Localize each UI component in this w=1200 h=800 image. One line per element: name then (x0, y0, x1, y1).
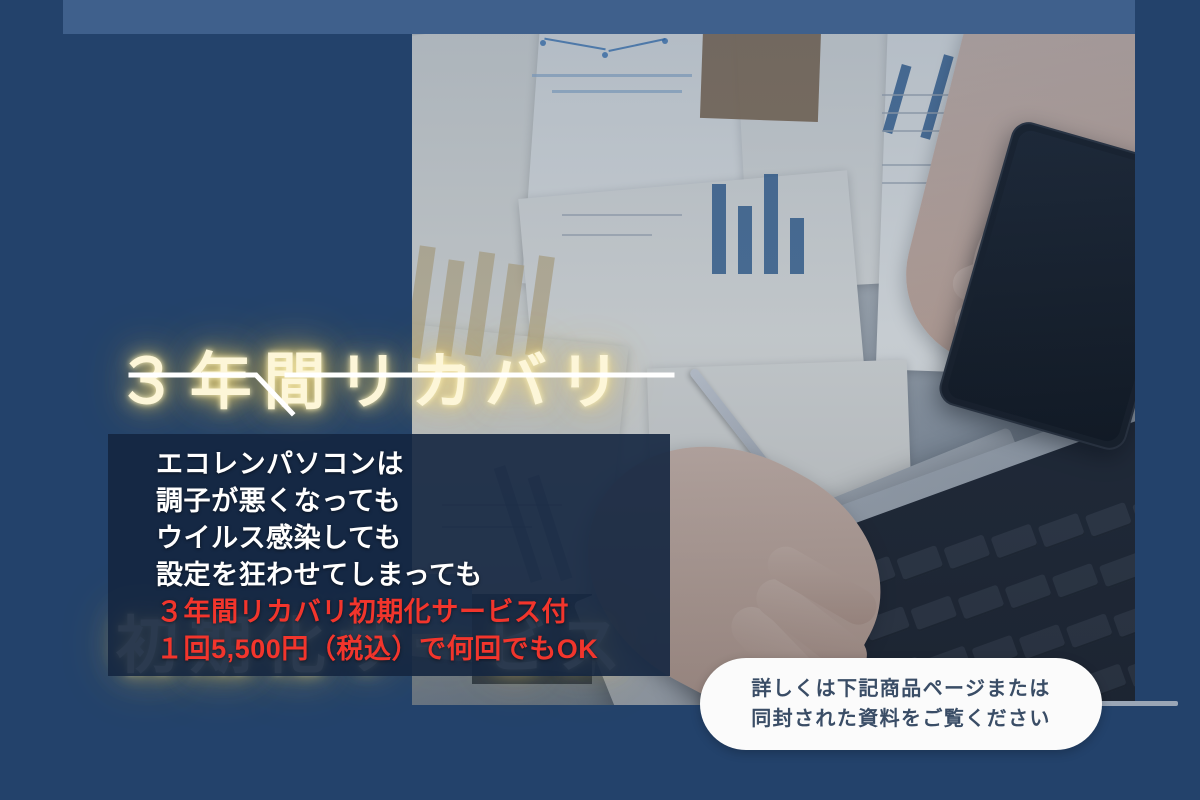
info-callout: 詳しくは下記商品ページまたは 同封された資料をご覧ください (700, 658, 1102, 750)
description-panel: エコレンパソコンは 調子が悪くなっても ウイルス感染しても 設定を狂わせてしまっ… (108, 434, 670, 676)
description-line-highlight: ３年間リカバリ初期化サービス付 (156, 594, 676, 631)
description-line: ウイルス感染しても (156, 520, 676, 557)
description-line: 調子が悪くなっても (156, 483, 676, 520)
headline-line-1: ３年間リカバリ (116, 339, 876, 427)
description-lines: エコレンパソコンは 調子が悪くなっても ウイルス感染しても 設定を狂わせてしまっ… (156, 446, 676, 668)
description-line: 設定を狂わせてしまっても (156, 557, 676, 594)
top-accent-bar (63, 0, 1135, 34)
callout-line-1: 詳しくは下記商品ページまたは (751, 674, 1050, 704)
callout-line-2: 同封された資料をご覧ください (751, 704, 1051, 734)
description-line-highlight: １回5,500円（税込）で何回でもOK (156, 631, 676, 668)
description-line: エコレンパソコンは (156, 446, 676, 483)
promo-banner: ３年間リカバリ 初期化サービス エコレンパソコンは 調子が悪くなっても ウイルス… (0, 0, 1200, 800)
